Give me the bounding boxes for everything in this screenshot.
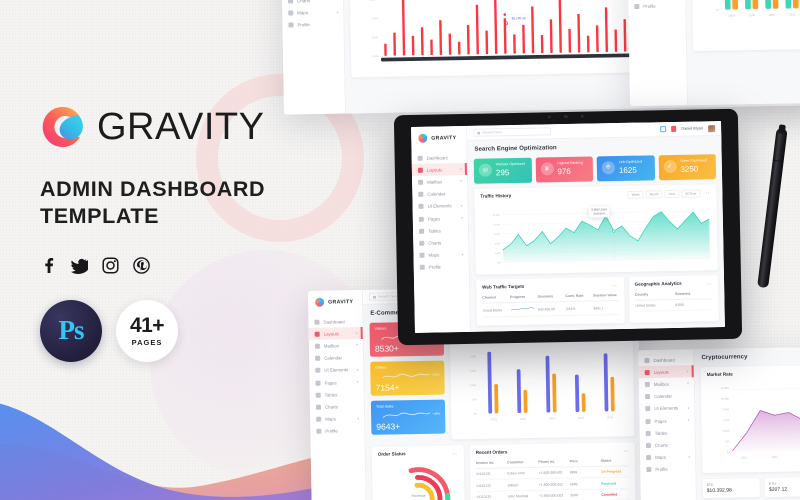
seo-card-label: Website Optimized [496, 163, 525, 167]
svg-text:2008: 2008 [728, 13, 735, 17]
table-cell: 3.64% [566, 306, 591, 310]
facebook-icon[interactable] [40, 257, 57, 274]
pages-label: PAGES [132, 339, 163, 347]
chevron-icon: ▾ [461, 204, 463, 208]
traffic-history-card[interactable]: Traffic History •• Week Month Year All T… [474, 184, 718, 275]
svg-text:25,000: 25,000 [493, 215, 501, 217]
sidebar-item-charts[interactable]: Charts [413, 236, 468, 249]
column-header: Session Value [593, 293, 618, 297]
column-header: Sessions [538, 294, 563, 298]
sidebar-item-label: Calendar [654, 394, 672, 399]
sidebar-item-label: Mailbox [654, 382, 669, 387]
kpi-delta: +20% [432, 373, 440, 377]
sidebar-item-label: Pages [324, 380, 337, 385]
sidebar-item-icon [646, 443, 651, 448]
table-cell: 8,890 [675, 302, 712, 307]
sidebar-item-label: UI Elements [654, 406, 678, 411]
sidebar-item-icon [316, 417, 321, 422]
pages-badge: 41+ PAGES [116, 300, 178, 362]
svg-text:2,500: 2,500 [470, 383, 477, 387]
range-buttons[interactable]: Week Month Year All Time [628, 189, 701, 199]
svg-text:$9,200.49: $9,200.49 [512, 16, 526, 20]
table-cell: $599 [570, 493, 598, 497]
range-button[interactable]: Year [665, 190, 680, 199]
svg-text:2012: 2012 [772, 455, 778, 459]
gauge-icon: ◎ [479, 164, 492, 177]
table-row[interactable]: Social Media$43,456.003.64%$451.1 [482, 301, 618, 318]
order-status-card[interactable]: Order Status •• Revenue $3,590 [372, 445, 466, 500]
status-badge: On Progress [601, 470, 629, 474]
pinterest-icon[interactable] [133, 257, 150, 274]
sidebar-item-icon [288, 0, 293, 3]
column-header: Conv. Rate [565, 293, 590, 297]
table-cell: Social Media [483, 308, 508, 312]
table-cell: William [508, 483, 536, 487]
table-cell: $899 [570, 470, 598, 474]
sidebar-item-mailbox[interactable]: Mailbox▾ [639, 378, 694, 391]
sidebar-item-icon [419, 216, 424, 221]
photoshop-badge: Ps [40, 300, 102, 362]
svg-text:2012: 2012 [491, 417, 498, 421]
poster-canvas: GRAVITY DashboardLayouts▸Mailbox▾Calenda… [0, 0, 800, 500]
card-title: Order Status [378, 450, 458, 456]
sidebar-item-icon [645, 419, 650, 424]
range-button[interactable]: All Time [681, 189, 701, 198]
table-row[interactable]: United States8,890 [635, 299, 713, 312]
sidebar-item-icon [418, 192, 423, 197]
chevron-icon: ▾ [356, 344, 358, 348]
table-cell: $699 [570, 481, 598, 485]
tooltip-line-2: Sessions [593, 211, 605, 215]
seo-card-value: 295 [496, 168, 525, 178]
sidebar-item-charts[interactable]: Charts [310, 400, 364, 413]
pages-count: 41+ [130, 315, 164, 336]
svg-text:2016: 2016 [607, 415, 614, 419]
svg-text:5,000: 5,000 [470, 369, 477, 373]
sidebar-item-calendar[interactable]: Calendar [412, 187, 467, 200]
table-cell [510, 306, 535, 313]
sidebar-item-maps[interactable]: Maps▾ [282, 6, 343, 19]
sidebar-items[interactable]: DashboardLayouts▸Mailbox▾CalendarUI Elem… [412, 151, 469, 274]
seo-card-value: 1625 [619, 165, 642, 174]
speed-icon: ✓ [663, 160, 676, 173]
sidebar-item-layouts[interactable]: Layouts▸ [412, 163, 467, 176]
sidebar-item-icon [645, 382, 650, 387]
sidebar-item-maps[interactable]: Maps▾ [413, 248, 468, 261]
sidebar-item-icon [418, 168, 423, 173]
sidebar[interactable]: GRAVITY DashboardLayouts▸Mailbox▾Calenda… [626, 0, 688, 106]
chevron-icon: ▾ [356, 368, 358, 372]
market-rate-chart: 10,00010,0007,0005,0002,0005001020112012… [707, 377, 800, 472]
coin-cards: BTC $10,392.98 ETH $207.12 LTC $99.14 [703, 476, 800, 498]
chart-tooltip: 9,908 Users Sessions [588, 206, 610, 218]
dashboard-mock-crypto[interactable]: DashboardLayouts▸Mailbox▾CalendarUI Elem… [638, 346, 800, 500]
coin-card[interactable]: ETH $207.12 [765, 477, 800, 497]
brand-lockup: GRAVITY [40, 104, 320, 150]
range-button[interactable]: Week [628, 190, 644, 199]
column-header: Price [570, 459, 598, 463]
sidebar-item-charts[interactable]: Charts [640, 439, 695, 452]
svg-text:500: 500 [725, 439, 730, 443]
sidebar-item-label: Profile [297, 22, 310, 27]
seo-card-label: Link Optimized [619, 161, 642, 165]
svg-text:3,000: 3,000 [372, 36, 379, 39]
table-cell: United States [635, 303, 672, 308]
chevron-icon: ▾ [357, 417, 359, 421]
svg-text:10,000: 10,000 [721, 386, 730, 390]
seo-stat-card[interactable]: ⎆Link Optimized1625 [597, 155, 655, 181]
table-cell: +1-800-000-003 [539, 493, 567, 497]
dashboard-body: Search Engine Optimization ◎Website Opti… [467, 136, 725, 332]
column-header: Phone no. [538, 459, 566, 463]
chevron-icon: ▾ [460, 179, 462, 183]
sidebar-item-profile[interactable]: Profile [282, 18, 343, 31]
sidebar-item-icon [419, 228, 424, 233]
page-title: Cryptocurrency [701, 352, 800, 361]
svg-text:15,000: 15,000 [370, 0, 378, 2]
coin-card[interactable]: BTC $10,392.98 [703, 478, 761, 498]
column-header: Channel [482, 295, 507, 299]
search-icon [373, 295, 376, 298]
link-icon: ⎆ [602, 162, 615, 175]
seo-stat-cards[interactable]: ◎Website Optimized295♛Highest Ranking976… [474, 154, 716, 183]
kpi-delta: +48% [432, 412, 440, 416]
table-body[interactable]: United States8,890 [635, 299, 713, 312]
sidebar-item-label: Layouts [427, 167, 442, 172]
card-title: Geographic Analytics [635, 280, 713, 286]
table-cell: #1110132 [476, 483, 504, 487]
sidebar-item-profile[interactable]: Profile [414, 261, 469, 274]
sidebar-item-label: Dashboard [323, 319, 345, 324]
sidebar-item-label: Layouts [324, 331, 339, 336]
sidebar-item-ui-elements[interactable]: UI Elements▾ [639, 402, 694, 415]
svg-text:10,500: 10,500 [493, 224, 501, 226]
coin-value: $10,392.98 [707, 487, 756, 494]
jobs-overview-card[interactable]: Jobs Overview ■■ 20,00010,0007,5005,0002… [690, 0, 800, 51]
column-header: Status [601, 458, 629, 462]
sidebar-item-calendar[interactable]: Calendar [639, 390, 694, 403]
seo-card-value: 3250 [680, 164, 707, 174]
chevron-icon: ▾ [336, 10, 338, 14]
svg-text:2009: 2009 [749, 13, 756, 17]
card-menu-icon[interactable]: •• [706, 190, 711, 195]
sidebar-item-icon [419, 241, 424, 246]
sidebar-item-maps[interactable]: Maps▾ [640, 451, 695, 464]
sidebar-item-icon [644, 358, 649, 363]
topbar-actions[interactable]: Daniel Bryan [660, 125, 715, 133]
sidebar-logo: GRAVITY [411, 126, 466, 152]
svg-text:2,000: 2,000 [723, 429, 730, 433]
twitter-icon[interactable] [71, 257, 88, 274]
brand-name: GRAVITY [328, 299, 353, 305]
tablet-screen[interactable]: GRAVITY DashboardLayouts▸Mailbox▾Calenda… [411, 121, 725, 333]
sidebar-item-pages[interactable]: Pages▾ [309, 376, 363, 389]
seo-card-label: Highest Ranking [557, 162, 583, 166]
donut-center-label: Revenue [411, 494, 425, 498]
brand-title: GRAVITY [97, 106, 265, 149]
sidebar-item-layouts[interactable]: Layouts▸ [639, 365, 694, 378]
sidebar-item-label: Calendar [427, 192, 445, 197]
financial-statistics-chart: 20,00015,0007,0003,0001,000$9,200.49 [356, 0, 634, 73]
sidebar-item-profile[interactable]: Profile [628, 0, 685, 13]
sidebar-item-icon [634, 4, 639, 9]
sidebar-item-label: Dashboard [427, 155, 449, 160]
kpi-value: 7154+ [376, 382, 440, 393]
sidebar-item-icon [418, 180, 423, 185]
sidebar-item-label: Calendar [324, 355, 342, 360]
chevron-icon: ▾ [688, 455, 690, 459]
svg-text:500: 500 [497, 262, 501, 264]
chevron-icon: ▾ [687, 382, 689, 386]
sidebar-item-maps[interactable]: Maps▾ [310, 412, 364, 425]
sidebar-item-label: Pages [654, 418, 667, 423]
svg-text:3,000: 3,000 [495, 243, 501, 245]
sidebar-item-label: Profile [325, 429, 338, 434]
market-rate-card[interactable]: Market Rate 10,00010,0007,0005,0002,0005… [701, 364, 800, 473]
card-title: Market Rate [707, 369, 800, 377]
table-cell: +1-800-000-002 [539, 482, 567, 486]
sidebar-item-tables[interactable]: Tables [640, 426, 695, 439]
table-cell: $451.1 [593, 306, 618, 310]
recent-orders-table[interactable]: Invoice no.CustomerPhone no.PriceStatus#… [476, 455, 630, 500]
sidebar-item-label: Pages [428, 216, 441, 221]
search-input[interactable]: Search here... [473, 128, 551, 137]
card-menu-icon[interactable]: •• [613, 283, 618, 288]
sidebar-item-label: Tables [655, 430, 668, 435]
sidebar-item-label: Layouts [654, 369, 669, 374]
column-header: Country [635, 292, 672, 297]
sidebar-items[interactable]: DashboardLayouts▸Mailbox▾CalendarUI Elem… [280, 0, 343, 31]
chevron-icon: ▸ [460, 167, 462, 171]
kpi-sparkline [376, 409, 440, 421]
kpi-card[interactable]: Orders +20% 7154+ [370, 361, 445, 396]
column-header: Sessions [675, 291, 712, 296]
seo-card-value: 976 [557, 167, 583, 176]
photoshop-label: Ps [59, 315, 84, 346]
card-menu-icon[interactable]: •• [453, 451, 458, 456]
seo-stat-card[interactable]: ✓Speed Optimized3250 [658, 154, 716, 180]
sidebar-item-icon [645, 406, 650, 411]
table-cell: $43,456.00 [538, 307, 563, 311]
svg-text:2011: 2011 [789, 12, 796, 16]
seo-stat-card[interactable]: ◎Website Optimized295 [474, 158, 532, 184]
status-badge: Received [601, 481, 629, 485]
sidebar-item-profile[interactable]: Profile [310, 425, 364, 438]
tablet-device[interactable]: GRAVITY DashboardLayouts▸Mailbox▾Calenda… [394, 109, 742, 346]
chevron-icon: ▸ [356, 331, 358, 335]
table-cell: John Marshal [508, 494, 536, 498]
sidebar-item-tables[interactable]: Tables [310, 388, 364, 401]
svg-text:10: 10 [716, 8, 720, 12]
gravity-logo-icon [40, 104, 86, 150]
svg-text:5,000: 5,000 [723, 418, 730, 422]
instagram-icon[interactable] [102, 257, 119, 274]
sidebar-item-label: Maps [655, 455, 666, 460]
sidebar-item-label: Tables [428, 228, 441, 233]
sidebar-item-label: UI Elements [324, 368, 348, 373]
status-badge: Cancelled [601, 492, 629, 496]
sidebar-item-icon [316, 405, 321, 410]
financial-statistics-card[interactable]: Financial Statistics •• Week Month Year … [349, 0, 640, 77]
sidebar-item-icon [316, 429, 321, 434]
jobs-overview-chart: 20,00010,0007,5005,0002,5008001020082009… [696, 0, 800, 45]
sidebar-item-dashboard[interactable]: Dashboard [638, 353, 693, 366]
notifications-icon[interactable] [671, 126, 677, 132]
svg-text:7,000: 7,000 [722, 407, 729, 411]
svg-text:7,000: 7,000 [371, 17, 378, 20]
sidebar-item-mailbox[interactable]: Mailbox▾ [412, 175, 467, 188]
avatar[interactable] [708, 125, 715, 132]
sidebar-item-label: Charts [655, 443, 668, 448]
column-header: Invoice no. [476, 460, 504, 464]
coin-value: $207.12 [769, 486, 800, 493]
svg-text:50: 50 [474, 412, 477, 416]
dashboard-seo[interactable]: GRAVITY DashboardLayouts▸Mailbox▾Calenda… [411, 121, 725, 333]
card-title: Recent Orders [476, 447, 629, 455]
sidebar-item-icon [288, 11, 293, 16]
sidebar-item-icon [645, 394, 650, 399]
table-cell: Edwin John [507, 471, 535, 475]
sidebar[interactable]: GRAVITY DashboardLayouts▸Mailbox▾Calenda… [280, 0, 346, 115]
sidebar-item-label: Profile [429, 265, 442, 270]
svg-text:5,000: 5,000 [494, 234, 500, 236]
sidebar-item-icon [646, 467, 651, 472]
sidebar-item-ui-elements[interactable]: UI Elements▾ [309, 364, 363, 377]
sidebar-item-pages[interactable]: Pages▾ [413, 212, 468, 225]
range-button[interactable]: Month [646, 190, 663, 199]
svg-text:10: 10 [727, 450, 731, 454]
svg-text:10,000: 10,000 [721, 397, 730, 401]
kpi-value: 9643+ [376, 421, 440, 432]
crown-icon: ♛ [540, 163, 553, 176]
chevron-icon: ▾ [687, 406, 689, 410]
social-links[interactable] [40, 257, 320, 274]
seo-tables-row: Web Traffic Targets •• ChannelProgressSe… [476, 275, 719, 326]
sidebar-item-icon [419, 253, 424, 258]
page-title: Search Engine Optimization [474, 142, 715, 153]
card-menu-icon[interactable]: •• [624, 448, 629, 453]
svg-text:2015: 2015 [578, 416, 585, 420]
chevron-icon: ▾ [462, 253, 464, 257]
promo-block: GRAVITY ADMIN DASHBOARD TEMPLATE Ps 41+ [40, 104, 320, 362]
kpi-card[interactable]: Total Sales +48% 9643+ [371, 400, 446, 435]
sidebar-item-label: Maps [325, 417, 336, 422]
sidebar-item-icon [315, 368, 320, 373]
dashboard-body: Jobs Overview ■■ 20,00010,0007,5005,0002… [684, 0, 800, 105]
sidebar-item-icon [645, 370, 650, 375]
seo-stat-card[interactable]: ♛Highest Ranking976 [535, 157, 593, 183]
sidebar-item-label: Maps [297, 10, 308, 15]
table-cell: #1110133 [477, 494, 505, 498]
chevron-icon: ▾ [461, 216, 463, 220]
sidebar-item-icon [646, 455, 651, 460]
messages-icon[interactable] [660, 126, 666, 132]
sidebar-item-label: Profile [643, 4, 656, 9]
table-body[interactable]: Social Media$43,456.003.64%$451.1 [482, 301, 618, 318]
card-title: Web Traffic Targets [482, 282, 618, 290]
card-menu-icon[interactable]: •• [707, 281, 712, 286]
sidebar-item-icon [316, 392, 321, 397]
sidebar-item-label: Dashboard [653, 357, 675, 362]
svg-text:2013: 2013 [520, 417, 527, 421]
column-header: Progress [510, 294, 535, 298]
svg-text:7,500: 7,500 [469, 354, 476, 358]
sidebar-item-icon [419, 204, 424, 209]
sidebar-item-icon [646, 431, 651, 436]
svg-text:1,000: 1,000 [372, 55, 379, 58]
geographic-analytics-card[interactable]: Geographic Analytics •• CountrySessions … [629, 275, 719, 323]
web-traffic-targets-card[interactable]: Web Traffic Targets •• ChannelProgressSe… [476, 277, 624, 326]
sidebar-item-label: Charts [325, 404, 338, 409]
table-row[interactable]: #1110133John Marshal+1-800-000-003$599Ca… [476, 489, 629, 500]
recent-orders-card[interactable]: Recent Orders •• Invoice no.CustomerPhon… [470, 442, 637, 500]
svg-text:500: 500 [472, 397, 477, 401]
chevron-icon: ▾ [357, 380, 359, 384]
brand-name: GRAVITY [431, 135, 456, 141]
chevron-icon: ▸ [687, 370, 689, 374]
kpi-sparkline [375, 370, 439, 382]
stylus-pen [756, 124, 789, 290]
sidebar-item-label: Profile [655, 467, 668, 472]
search-icon [477, 131, 480, 134]
sidebar-item-ui-elements[interactable]: UI Elements▾ [412, 200, 467, 213]
column-header: Customer [507, 460, 535, 464]
svg-text:2010: 2010 [769, 13, 776, 17]
sidebar-item-label: Maps [428, 253, 439, 258]
svg-text:2014: 2014 [549, 416, 556, 420]
sidebar-item-label: Tables [325, 392, 338, 397]
chevron-icon: ▾ [688, 418, 690, 422]
dashboard-body: Cryptocurrency Market Rate 10,00010,0007… [694, 346, 800, 500]
sidebar-item-label: Mailbox [324, 343, 339, 348]
sidebar-item-dashboard[interactable]: Dashboard [412, 151, 467, 164]
sidebar-item-icon [288, 23, 293, 28]
sidebar-item-tables[interactable]: Tables [413, 224, 468, 237]
sidebar[interactable]: DashboardLayouts▸Mailbox▾CalendarUI Elem… [638, 349, 697, 500]
badge-row: Ps 41+ PAGES [40, 300, 320, 362]
sidebar-item-label: Charts [428, 240, 441, 245]
table-cell: +1-800-000-001 [539, 471, 567, 475]
sidebar-items[interactable]: DashboardLayouts▸Mailbox▾CalendarUI Elem… [626, 0, 685, 13]
search-placeholder: Search here... [482, 130, 505, 134]
sidebar-item-icon [420, 265, 425, 270]
user-name: Daniel Bryan [681, 126, 703, 130]
coin-symbol: ETH [769, 481, 800, 486]
sidebar-item-label: Charts [297, 0, 310, 3]
sidebar-item-pages[interactable]: Pages▾ [639, 414, 694, 427]
promo-headline: ADMIN DASHBOARD TEMPLATE [40, 176, 320, 231]
sidebar-item-label: UI Elements [428, 204, 452, 209]
ecommerce-bottom-row: Order Status •• Revenue $3,590 [372, 442, 637, 500]
seo-card-label: Speed Optimized [680, 159, 707, 163]
brand-logo-icon [418, 134, 427, 143]
sidebar[interactable]: GRAVITY DashboardLayouts▸Mailbox▾Calenda… [411, 126, 471, 333]
sidebar-items[interactable]: DashboardLayouts▸Mailbox▾CalendarUI Elem… [638, 349, 695, 476]
sidebar-item-icon [418, 155, 423, 160]
order-status-donut: Revenue $3,590 [378, 457, 459, 500]
svg-text:1,500: 1,500 [495, 253, 501, 255]
sidebar-item-icon [315, 380, 320, 385]
dashboard-mock-jobs[interactable]: GRAVITY DashboardLayouts▸Mailbox▾Calenda… [626, 0, 800, 106]
table-cell: #1110131 [476, 472, 504, 476]
sidebar-item-profile[interactable]: Profile [640, 463, 695, 476]
sidebar-item-label: Mailbox [427, 179, 442, 184]
svg-text:2011: 2011 [741, 455, 747, 459]
